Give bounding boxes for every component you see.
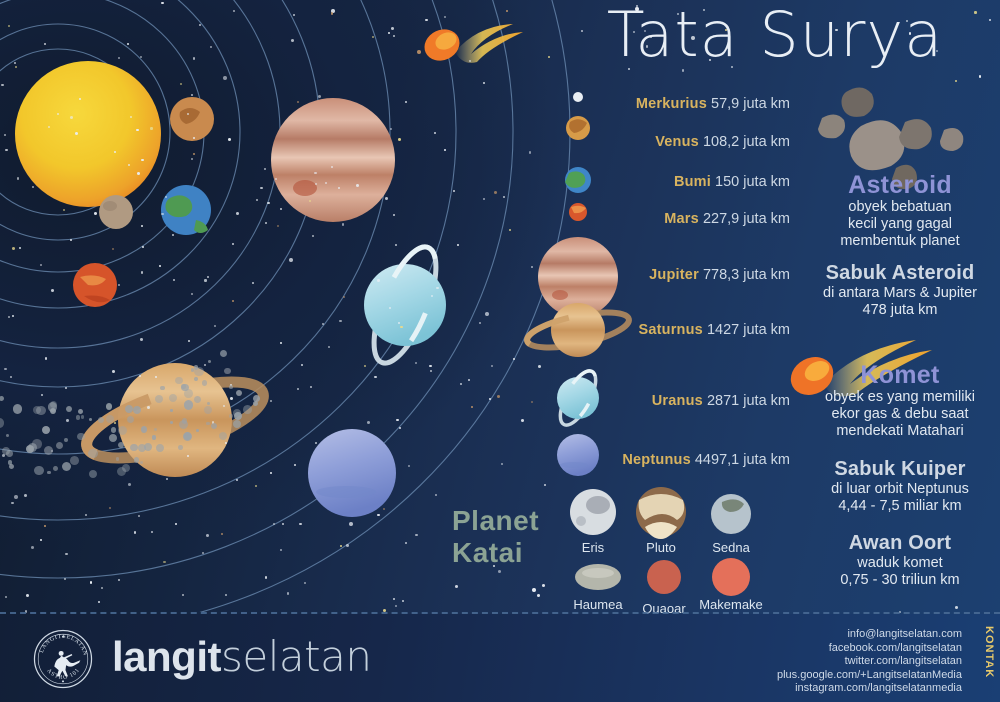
- solar-system-infographic: Tata Surya Merkurius 57,9 juta kmVenus 1…: [0, 0, 1000, 702]
- planet-row-jupiter: Jupiter 778,3 juta km: [649, 268, 790, 283]
- scale-neptunus: [557, 434, 599, 476]
- orbit-planet-jupiter: [271, 98, 395, 222]
- brand-langit: langit: [112, 633, 221, 680]
- kuiper-heading: Sabuk Kuiper: [800, 458, 1000, 480]
- dwarf-title-line1: Planet: [452, 505, 562, 537]
- dwarf-label-makemake-wrap: Makemake: [691, 594, 771, 612]
- sun: [15, 61, 161, 207]
- dwarf-title-line2: Katai: [452, 537, 562, 569]
- info-block-kuiper: Sabuk Kuiper di luar orbit Neptunus 4,44…: [800, 458, 1000, 515]
- dwarf-label-pluto-wrap: Pluto: [621, 537, 701, 555]
- contact-line-3[interactable]: plus.google.com/+LangitselatanMedia: [692, 669, 962, 683]
- planet-distance: 150 juta km: [711, 174, 790, 190]
- planet-distance: 227,9 juta km: [699, 211, 790, 227]
- dwarf-makemake: [712, 558, 750, 596]
- komet-desc-line1: obyek es yang memiliki: [800, 389, 1000, 406]
- dwarf-section-title: Planet Katai: [452, 505, 562, 569]
- asteroid-belt-line1: di antara Mars & Jupiter: [800, 285, 1000, 302]
- planet-distance: 1427 juta km: [703, 322, 790, 338]
- planet-distance: 2871 juta km: [703, 393, 790, 409]
- langitselatan-logo-icon: LANGITSELATAN ASTRO 101: [32, 628, 94, 690]
- komet-heading: Komet: [800, 362, 1000, 388]
- planet-name: Merkurius: [636, 96, 707, 112]
- planet-name: Jupiter: [649, 267, 699, 283]
- info-block-asteroid-belt: Sabuk Asteroid di antara Mars & Jupiter …: [800, 262, 1000, 319]
- planet-distance: 57,9 juta km: [707, 96, 790, 112]
- brand-wordmark: langitselatan: [112, 636, 371, 678]
- brand-selatan: selatan: [221, 632, 371, 681]
- kuiper-line1: di luar orbit Neptunus: [800, 481, 1000, 498]
- scale-column: [524, 92, 632, 476]
- contact-line-1[interactable]: facebook.com/langitselatan: [692, 642, 962, 656]
- contact-line-2[interactable]: twitter.com/langitselatan: [692, 655, 962, 669]
- orbit-planet-neptunus: [308, 429, 396, 517]
- orbit-planet-uranus: [364, 264, 446, 346]
- info-block-oort: Awan Oort waduk komet 0,75 - 30 triliun …: [800, 532, 1000, 589]
- planet-row-neptunus: Neptunus 4497,1 juta km: [622, 453, 790, 468]
- dwarf-label-sedna: Sedna: [691, 540, 771, 555]
- oort-line2: 0,75 - 30 triliun km: [800, 572, 1000, 589]
- orbit-planet-saturnus: [118, 363, 232, 477]
- planet-name: Neptunus: [622, 452, 690, 468]
- komet-desc-line3: mendekati Matahari: [800, 423, 1000, 440]
- planet-name: Uranus: [652, 393, 703, 409]
- planet-row-mars: Mars 227,9 juta km: [664, 212, 790, 227]
- planet-row-uranus: Uranus 2871 juta km: [652, 394, 790, 409]
- planet-name: Saturnus: [638, 322, 702, 338]
- asteroid-belt-line2: 478 juta km: [800, 302, 1000, 319]
- dwarf-label-sedna-wrap: Sedna: [691, 537, 771, 555]
- asteroid-desc-line2: kecil yang gagal: [800, 216, 1000, 233]
- planet-distance: 778,3 juta km: [699, 267, 790, 283]
- planet-row-saturnus: Saturnus 1427 juta km: [638, 323, 790, 338]
- dwarf-quaoar: [647, 560, 681, 594]
- kontak-label: KONTAK: [983, 626, 994, 678]
- kuiper-line2: 4,44 - 7,5 miliar km: [800, 498, 1000, 515]
- asteroid-heading: Asteroid: [800, 172, 1000, 198]
- main-panel: Tata Surya Merkurius 57,9 juta kmVenus 1…: [0, 0, 1000, 612]
- planet-name: Mars: [664, 211, 699, 227]
- planet-name: Venus: [655, 134, 699, 150]
- komet-desc-line2: ekor gas & debu saat: [800, 406, 1000, 423]
- scale-merkurius: [573, 92, 583, 102]
- footer: LANGITSELATAN ASTRO 101 langitselatan in…: [0, 614, 1000, 702]
- dwarf-label-pluto: Pluto: [621, 540, 701, 555]
- orbit-planet-merkurius: [99, 195, 133, 229]
- asteroid-desc-line3: membentuk planet: [800, 233, 1000, 250]
- info-block-asteroid: Asteroid obyek bebatuan kecil yang gagal…: [800, 172, 1000, 250]
- page-title: Tata Surya: [560, 2, 990, 67]
- oort-line1: waduk komet: [800, 555, 1000, 572]
- contact-line-0[interactable]: info@langitselatan.com: [692, 628, 962, 642]
- planet-row-bumi: Bumi 150 juta km: [674, 175, 790, 190]
- planet-name: Bumi: [674, 174, 711, 190]
- scale-uranus: [557, 377, 599, 419]
- dwarf-label-makemake: Makemake: [691, 597, 771, 612]
- planet-distance: 4497,1 juta km: [691, 452, 790, 468]
- contact-list: info@langitselatan.comfacebook.com/langi…: [692, 628, 962, 696]
- oort-heading: Awan Oort: [800, 532, 1000, 554]
- asteroid-belt-heading: Sabuk Asteroid: [800, 262, 1000, 284]
- scale-saturnus: [551, 303, 605, 357]
- info-block-komet: Komet obyek es yang memiliki ekor gas & …: [800, 362, 1000, 440]
- planet-row-merkurius: Merkurius 57,9 juta km: [636, 97, 790, 112]
- contact-line-4[interactable]: instagram.com/langitselatanmedia: [692, 682, 962, 696]
- planet-distance: 108,2 juta km: [699, 134, 790, 150]
- planet-row-venus: Venus 108,2 juta km: [655, 135, 790, 150]
- asteroid-desc-line1: obyek bebatuan: [800, 199, 1000, 216]
